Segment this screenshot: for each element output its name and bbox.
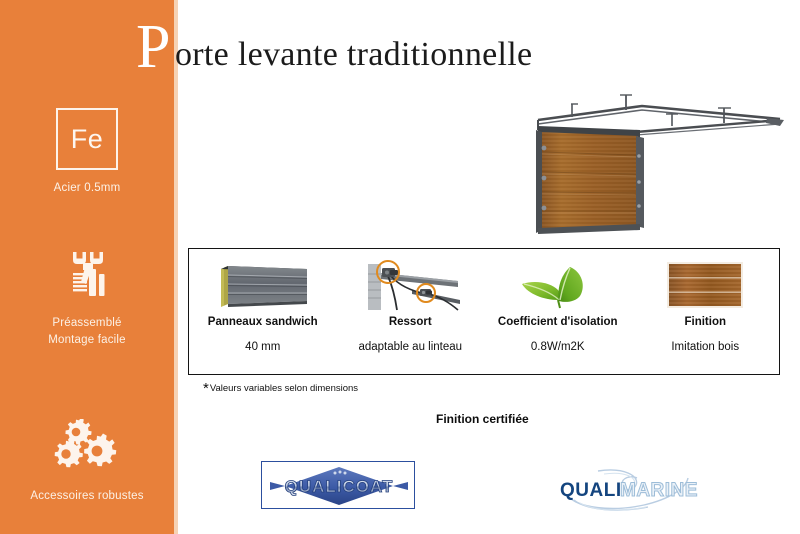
feature-title-insulation: Coefficient d'isolation: [498, 315, 618, 329]
page-title-remainder: orte levante traditionnelle: [175, 38, 532, 72]
qualimarine-wordmark-marine: MARINE: [620, 480, 698, 501]
spring-mechanism-icon: [337, 249, 485, 315]
sidebar-item-label-accessories: Accessoires robustes: [0, 488, 174, 505]
feature-value-spring: adaptable au linteau: [358, 340, 462, 354]
sidebar-item-label-preassembled: Préassemblé: [0, 315, 174, 332]
sidebar-item-label-easy-assembly: Montage facile: [0, 332, 174, 349]
feature-cell-finish: Finition Imitation bois: [632, 249, 780, 374]
feature-cell-panels: Panneaux sandwich 40 mm: [189, 249, 337, 374]
qualimarine-logo: QUALI MARINE: [552, 466, 704, 512]
feature-cell-insulation: Coefficient d'isolation 0.8W/m2K: [484, 249, 632, 374]
qualimarine-wordmark-quali: QUALI: [560, 480, 622, 501]
footnote: *Valeurs variables selon dimensions: [203, 380, 358, 397]
garage-door-with-rails-image: [512, 86, 788, 234]
fe-element-box-icon: Fe: [56, 108, 118, 170]
fe-symbol-label: Fe: [71, 126, 104, 153]
sandwich-panel-icon: [189, 249, 337, 315]
qualicoat-logo: QUALICOAT: [261, 461, 415, 509]
sidebar-item-steel: Fe Acier 0.5mm: [0, 108, 174, 197]
feature-value-panels: 40 mm: [245, 340, 280, 354]
footnote-marker: *: [203, 380, 209, 397]
wrench-tools-icon: [0, 245, 174, 303]
footnote-text: Valeurs variables selon dimensions: [210, 383, 358, 394]
feature-value-finish: Imitation bois: [671, 340, 739, 354]
feature-specifications-box: Panneaux sandwich 40 mm: [188, 248, 780, 375]
qualicoat-wordmark: QUALICOAT: [285, 477, 394, 496]
sidebar-item-preassembled: Préassemblé Montage facile: [0, 245, 174, 349]
green-leaves-icon: [484, 249, 632, 315]
page-title-initial: P: [136, 16, 170, 78]
sidebar-item-label-steel: Acier 0.5mm: [0, 180, 174, 197]
wood-finish-swatch-icon: [632, 249, 780, 315]
certification-heading: Finition certifiée: [436, 412, 529, 426]
page-title: P orte levante traditionnelle: [130, 20, 750, 84]
feature-cell-spring: Ressort adaptable au linteau: [337, 249, 485, 374]
wood-swatch-surface: [667, 262, 743, 308]
gears-icon: [0, 418, 174, 476]
feature-title-spring: Ressort: [389, 315, 432, 329]
product-datasheet-page: Fe Acier 0.5mm: [0, 0, 800, 534]
feature-value-insulation: 0.8W/m2K: [531, 340, 585, 354]
feature-title-finish: Finition: [684, 315, 726, 329]
feature-title-panels: Panneaux sandwich: [208, 315, 318, 329]
sidebar-item-accessories: Accessoires robustes: [0, 418, 174, 505]
